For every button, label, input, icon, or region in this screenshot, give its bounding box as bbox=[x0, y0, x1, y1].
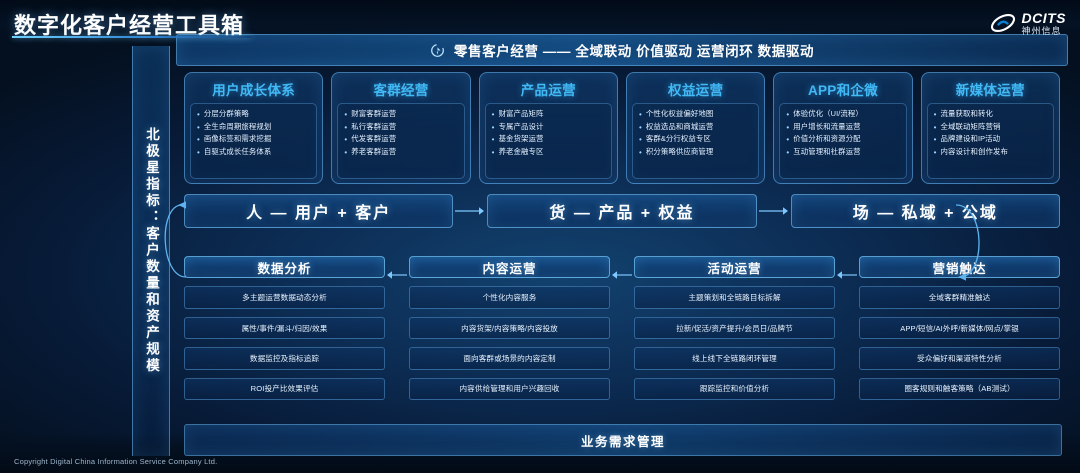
card-item-label: 养老金融专区 bbox=[499, 147, 544, 158]
card-item: •养老金融专区 bbox=[492, 147, 607, 158]
card-title: 新媒体运营 bbox=[927, 78, 1054, 103]
column-arrow-left-icon bbox=[610, 256, 634, 408]
bullet-icon: • bbox=[786, 147, 789, 158]
card-item-label: 客群&分行权益专区 bbox=[646, 134, 711, 145]
card-item: •个性化权益偏好地图 bbox=[639, 109, 754, 120]
bottom-bar[interactable]: 业务需求管理 bbox=[184, 424, 1062, 456]
bullet-icon: • bbox=[639, 122, 642, 133]
card-title: APP和企微 bbox=[779, 78, 906, 103]
card-body: •个性化权益偏好地图 •权益选品和商城运营 •客群&分行权益专区 •积分策略供应… bbox=[632, 103, 759, 179]
capability-card[interactable]: 用户成长体系 •分层分群策略 •全生命周期旅程规划 •画像标签和需求挖掘 •自驱… bbox=[184, 72, 323, 184]
card-item: •财富产品矩阵 bbox=[492, 109, 607, 120]
card-body: •流量获取和转化 •全域联动矩阵营销 •品牌建设和IP活动 •内容设计和创作发布 bbox=[927, 103, 1054, 179]
card-item-label: 流量获取和转化 bbox=[941, 109, 993, 120]
bullet-icon: • bbox=[786, 122, 789, 133]
card-item-label: 私行客群运营 bbox=[351, 122, 396, 133]
flow-box-place[interactable]: 场 — 私域 + 公域 bbox=[791, 194, 1060, 228]
bullet-icon: • bbox=[344, 147, 347, 158]
card-item: •分层分群策略 bbox=[197, 109, 312, 120]
card-item: •体验优化（UI/流程） bbox=[786, 109, 901, 120]
column-cell[interactable]: APP/短信/AI外呼/新媒体/网点/掌银 bbox=[859, 317, 1060, 339]
logo-text-cn: 神州信息 bbox=[1022, 27, 1067, 36]
bullet-icon: • bbox=[344, 109, 347, 120]
card-item: •财富客群运营 bbox=[344, 109, 459, 120]
capability-cards: 用户成长体系 •分层分群策略 •全生命周期旅程规划 •画像标签和需求挖掘 •自驱… bbox=[184, 72, 1060, 184]
card-body: •财富客群运营 •私行客群运营 •代发客群运营 •养老客群运营 bbox=[337, 103, 464, 179]
card-item: •品牌建设和IP活动 bbox=[934, 134, 1049, 145]
card-item-label: 养老客群运营 bbox=[351, 147, 396, 158]
card-item: •互动管理和社群运营 bbox=[786, 147, 901, 158]
card-item: •客群&分行权益专区 bbox=[639, 134, 754, 145]
card-item-label: 基金货架运营 bbox=[499, 134, 544, 145]
column-cell[interactable]: 跟踪监控和价值分析 bbox=[634, 378, 835, 400]
card-item: •内容设计和创作发布 bbox=[934, 147, 1049, 158]
refresh-cycle-icon bbox=[430, 43, 445, 58]
capability-card[interactable]: 权益运营 •个性化权益偏好地图 •权益选品和商城运营 •客群&分行权益专区 •积… bbox=[626, 72, 765, 184]
card-item-label: 互动管理和社群运营 bbox=[793, 147, 860, 158]
card-item: •价值分析和资源分配 bbox=[786, 134, 901, 145]
bullet-icon: • bbox=[197, 147, 200, 158]
column-campaign-ops: 活动运营 主题策划和全链路目标拆解 拉新/促活/资产提升/会员日/品牌节 线上线… bbox=[634, 256, 835, 408]
bullet-icon: • bbox=[934, 109, 937, 120]
column-header[interactable]: 数据分析 bbox=[184, 256, 385, 278]
column-arrow-left-icon bbox=[385, 256, 409, 408]
column-cell[interactable]: 面向客群或场景的内容定制 bbox=[409, 347, 610, 369]
bullet-icon: • bbox=[344, 134, 347, 145]
card-item-label: 全生命周期旅程规划 bbox=[204, 122, 271, 133]
card-item-label: 专属产品设计 bbox=[499, 122, 544, 133]
card-item-label: 权益选品和商城运营 bbox=[646, 122, 713, 133]
copyright-text: Copyright Digital China Information Serv… bbox=[14, 457, 217, 466]
card-item: •积分策略供应商管理 bbox=[639, 147, 754, 158]
column-marketing-reach: 营销触达 全域客群精准触达 APP/短信/AI外呼/新媒体/网点/掌银 受众偏好… bbox=[859, 256, 1060, 408]
title-underline bbox=[12, 36, 252, 38]
north-star-rail: 北极星指标：客户数量和资产规模 bbox=[132, 46, 170, 456]
flow-box-goods[interactable]: 货 — 产品 + 权益 bbox=[487, 194, 756, 228]
column-cell[interactable]: 多主题运营数据动态分析 bbox=[184, 286, 385, 308]
bullet-icon: • bbox=[786, 134, 789, 145]
bullet-icon: • bbox=[639, 134, 642, 145]
bullet-icon: • bbox=[197, 122, 200, 133]
bullet-icon: • bbox=[492, 134, 495, 145]
column-header[interactable]: 内容运营 bbox=[409, 256, 610, 278]
card-item-label: 用户增长和流量运营 bbox=[793, 122, 860, 133]
capability-card[interactable]: 新媒体运营 •流量获取和转化 •全域联动矩阵营销 •品牌建设和IP活动 •内容设… bbox=[921, 72, 1060, 184]
card-item-label: 内容设计和创作发布 bbox=[941, 147, 1008, 158]
card-title: 客群经营 bbox=[337, 78, 464, 103]
card-item: •流量获取和转化 bbox=[934, 109, 1049, 120]
card-item-label: 分层分群策略 bbox=[204, 109, 249, 120]
card-item: •自驱式成长任务体系 bbox=[197, 147, 312, 158]
card-body: •分层分群策略 •全生命周期旅程规划 •画像标签和需求挖掘 •自驱式成长任务体系 bbox=[190, 103, 317, 179]
bullet-icon: • bbox=[492, 109, 495, 120]
card-item-label: 品牌建设和IP活动 bbox=[941, 134, 1001, 145]
card-item-label: 价值分析和资源分配 bbox=[793, 134, 860, 145]
flow-arrow-right-icon bbox=[453, 204, 487, 218]
bullet-icon: • bbox=[197, 134, 200, 145]
column-cell[interactable]: 数据监控及指标追踪 bbox=[184, 347, 385, 369]
card-item-label: 积分策略供应商管理 bbox=[646, 147, 713, 158]
card-title: 产品运营 bbox=[485, 78, 612, 103]
flow-arrow-right-icon bbox=[757, 204, 791, 218]
bullet-icon: • bbox=[639, 147, 642, 158]
card-item: •养老客群运营 bbox=[344, 147, 459, 158]
column-cell[interactable]: 拉新/促活/资产提升/会员日/品牌节 bbox=[634, 317, 835, 339]
card-item: •全域联动矩阵营销 bbox=[934, 122, 1049, 133]
column-arrow-left-icon bbox=[835, 256, 859, 408]
capability-card[interactable]: APP和企微 •体验优化（UI/流程） •用户增长和流量运营 •价值分析和资源分… bbox=[773, 72, 912, 184]
column-cell[interactable]: 属性/事件/漏斗/归因/效果 bbox=[184, 317, 385, 339]
column-cell[interactable]: 内容供给管理和用户兴趣回收 bbox=[409, 378, 610, 400]
bullet-icon: • bbox=[934, 122, 937, 133]
dcits-swirl-icon bbox=[990, 10, 1016, 36]
card-body: •财富产品矩阵 •专属产品设计 •基金货架运营 •养老金融专区 bbox=[485, 103, 612, 179]
card-item-label: 财富客群运营 bbox=[351, 109, 396, 120]
bullet-icon: • bbox=[344, 122, 347, 133]
column-cell[interactable]: 线上线下全链路闭环管理 bbox=[634, 347, 835, 369]
column-cell[interactable]: 受众偏好和渠道特性分析 bbox=[859, 347, 1060, 369]
slide-canvas: 数字化客户经营工具箱 DCITS 神州信息 北极星指标：客户数量和资产规模 bbox=[0, 0, 1080, 473]
flow-box-people[interactable]: 人 — 用户 + 客户 bbox=[184, 194, 453, 228]
card-item-label: 代发客群运营 bbox=[351, 134, 396, 145]
column-content-ops: 内容运营 个性化内容服务 内容货架/内容策略/内容投放 面向客群或场景的内容定制… bbox=[409, 256, 610, 408]
bullet-icon: • bbox=[492, 147, 495, 158]
flow-row: 人 — 用户 + 客户 货 — 产品 + 权益 场 — 私域 + 公域 bbox=[184, 194, 1060, 228]
card-item-label: 财富产品矩阵 bbox=[499, 109, 544, 120]
card-item: •专属产品设计 bbox=[492, 122, 607, 133]
card-item-label: 个性化权益偏好地图 bbox=[646, 109, 713, 120]
main-panel: 零售客户经营 —— 全域联动 价值驱动 运营闭环 数据驱动 用户成长体系 •分层… bbox=[176, 32, 1066, 460]
brand-logo: DCITS 神州信息 bbox=[990, 10, 1067, 36]
bullet-icon: • bbox=[639, 109, 642, 120]
bullet-icon: • bbox=[786, 109, 789, 120]
column-cell[interactable]: 主题策划和全链路目标拆解 bbox=[634, 286, 835, 308]
card-item-label: 全域联动矩阵营销 bbox=[941, 122, 1001, 133]
card-item: •用户增长和流量运营 bbox=[786, 122, 901, 133]
card-item: •基金货架运营 bbox=[492, 134, 607, 145]
card-item: •私行客群运营 bbox=[344, 122, 459, 133]
card-item: •代发客群运营 bbox=[344, 134, 459, 145]
card-item-label: 体验优化（UI/流程） bbox=[793, 109, 863, 120]
capability-card[interactable]: 产品运营 •财富产品矩阵 •专属产品设计 •基金货架运营 •养老金融专区 bbox=[479, 72, 618, 184]
card-item: •权益选品和商城运营 bbox=[639, 122, 754, 133]
bullet-icon: • bbox=[492, 122, 495, 133]
card-body: •体验优化（UI/流程） •用户增长和流量运营 •价值分析和资源分配 •互动管理… bbox=[779, 103, 906, 179]
column-cell[interactable]: 全域客群精准触达 bbox=[859, 286, 1060, 308]
column-data-analysis: 数据分析 多主题运营数据动态分析 属性/事件/漏斗/归因/效果 数据监控及指标追… bbox=[184, 256, 385, 408]
bullet-icon: • bbox=[934, 147, 937, 158]
strategy-banner-text: 零售客户经营 —— 全域联动 价值驱动 运营闭环 数据驱动 bbox=[454, 40, 814, 60]
column-cell[interactable]: 内容货架/内容策略/内容投放 bbox=[409, 317, 610, 339]
strategy-banner: 零售客户经营 —— 全域联动 价值驱动 运营闭环 数据驱动 bbox=[176, 34, 1068, 66]
card-item: •全生命周期旅程规划 bbox=[197, 122, 312, 133]
bullet-icon: • bbox=[934, 134, 937, 145]
logo-text-en: DCITS bbox=[1022, 11, 1067, 25]
column-cell[interactable]: ROI投产比效果评估 bbox=[184, 378, 385, 400]
card-item: •画像标签和需求挖掘 bbox=[197, 134, 312, 145]
north-star-label: 北极星指标：客户数量和资产规模 bbox=[141, 127, 161, 375]
operation-columns: 数据分析 多主题运营数据动态分析 属性/事件/漏斗/归因/效果 数据监控及指标追… bbox=[184, 256, 1060, 408]
card-item-label: 自驱式成长任务体系 bbox=[204, 147, 271, 158]
card-title: 用户成长体系 bbox=[190, 78, 317, 103]
card-title: 权益运营 bbox=[632, 78, 759, 103]
bullet-icon: • bbox=[197, 109, 200, 120]
column-header[interactable]: 营销触达 bbox=[859, 256, 1060, 278]
card-item-label: 画像标签和需求挖掘 bbox=[204, 134, 271, 145]
column-header[interactable]: 活动运营 bbox=[634, 256, 835, 278]
capability-card[interactable]: 客群经营 •财富客群运营 •私行客群运营 •代发客群运营 •养老客群运营 bbox=[331, 72, 470, 184]
column-cell[interactable]: 个性化内容服务 bbox=[409, 286, 610, 308]
column-cell[interactable]: 圈客规则和触客策略（AB测试） bbox=[859, 378, 1060, 400]
